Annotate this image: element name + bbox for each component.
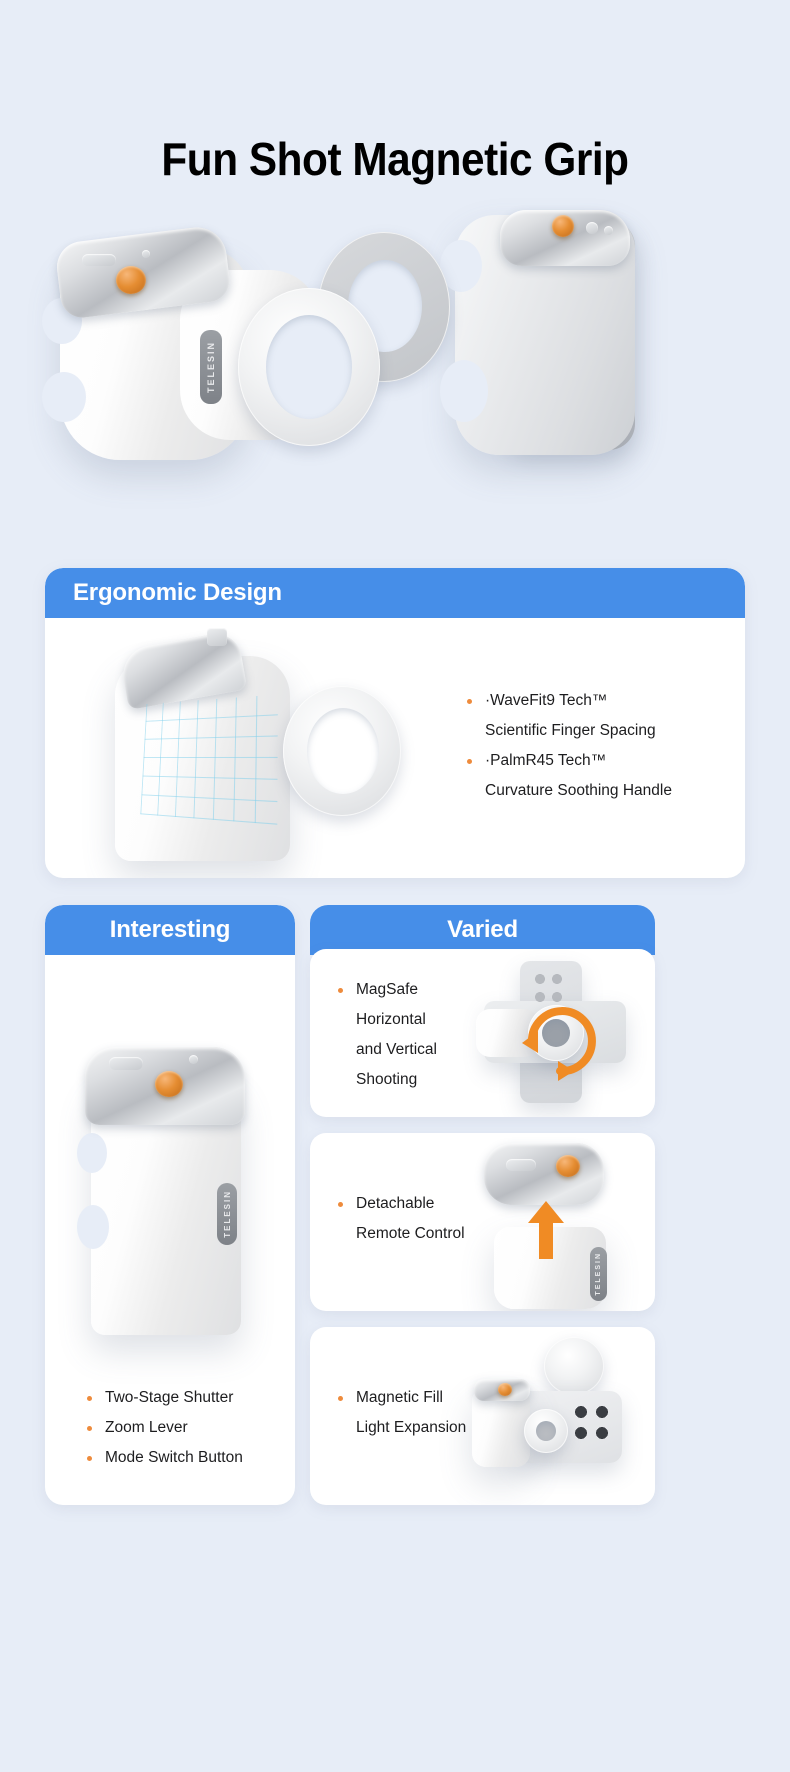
hero-back-mini-button-1 [586, 222, 598, 234]
detachable-remote-illustration: TELESIN [470, 1139, 655, 1309]
fill-light-camera-dots [572, 1403, 616, 1447]
magsafe-line-2: Horizontal [336, 1005, 476, 1035]
card-varied-title: Varied [447, 916, 518, 944]
brand-tag: TELESIN [200, 330, 222, 404]
brand-tag-label: TELESIN [206, 341, 216, 393]
magsafe-line-3: and Vertical [336, 1035, 476, 1065]
interesting-mode-switch-button [189, 1055, 198, 1064]
ergonomic-feature-1: ·WaveFit9 Tech™ [465, 686, 725, 716]
ergonomic-feature-1-sub: Scientific Finger Spacing [465, 716, 725, 746]
ergonomic-feature-2-sub: Curvature Soothing Handle [465, 776, 725, 806]
card-ergonomic-title: Ergonomic Design [73, 579, 282, 607]
ergonomic-magsafe-ring-hole [307, 708, 379, 794]
hero-front-zoom-lever [82, 254, 116, 266]
card-interesting-title: Interesting [110, 916, 230, 944]
interesting-shutter-button [155, 1071, 183, 1097]
magsafe-line-4: Shooting [336, 1065, 476, 1095]
interesting-zoom-lever [109, 1057, 143, 1070]
fill-light-ring-hole [536, 1421, 556, 1441]
hero-front-mode-switch-button [142, 250, 150, 258]
card-varied-banner: Varied [310, 905, 655, 955]
card-interesting[interactable]: Interesting TELESIN Two-Stage Shutter Zo… [45, 905, 295, 1505]
fill-light-line-1: Magnetic Fill [336, 1383, 486, 1413]
remote-zoom-lever [506, 1159, 536, 1171]
interesting-notch-1 [77, 1133, 107, 1173]
varied-item-detachable-remote[interactable]: Detachable Remote Control TELESIN [310, 1133, 655, 1311]
fill-light-shutter-button [498, 1383, 512, 1396]
varied-item-magsafe-shooting[interactable]: MagSafe Horizontal and Vertical Shooting [310, 949, 655, 1117]
detach-up-arrow-icon [528, 1201, 564, 1259]
remote-line-2: Remote Control [336, 1219, 486, 1249]
interesting-illustration: TELESIN [63, 983, 278, 1343]
detachable-remote-text: Detachable Remote Control [336, 1189, 486, 1249]
wavefit-grid-overlay [140, 695, 278, 825]
hero-back-mini-button-2 [604, 226, 613, 235]
ergonomic-feature-list: ·WaveFit9 Tech™ Scientific Finger Spacin… [465, 686, 725, 806]
remote-brand-tag-label: TELESIN [595, 1252, 602, 1296]
interesting-brand-tag: TELESIN [217, 1183, 237, 1245]
interesting-feature-list: Two-Stage Shutter Zoom Lever Mode Switch… [85, 1383, 295, 1473]
magsafe-line-1: MagSafe [336, 975, 476, 1005]
page-title: Fun Shot Magnetic Grip [32, 0, 759, 186]
hero-front-magsafe-ring-hole [266, 315, 352, 419]
hero-front-notch-2 [42, 372, 86, 422]
hero-back-notch-bottom [440, 360, 488, 422]
fill-light-line-2: Light Expansion [336, 1413, 486, 1443]
interesting-feature-2: Zoom Lever [85, 1413, 295, 1443]
card-ergonomic-design[interactable]: Ergonomic Design ·WaveFit9 Tech™ Scienti… [45, 568, 745, 878]
varied-item-magnetic-fill-light[interactable]: Magnetic Fill Light Expansion [310, 1327, 655, 1505]
card-interesting-banner: Interesting [45, 905, 295, 955]
card-ergonomic-banner: Ergonomic Design [45, 568, 745, 618]
remote-brand-tag: TELESIN [590, 1247, 607, 1301]
card-varied[interactable]: Varied MagSafe Horizontal and Vertical S… [310, 905, 655, 1525]
interesting-feature-3: Mode Switch Button [85, 1443, 295, 1473]
interesting-brand-tag-label: TELESIN [223, 1190, 232, 1238]
magsafe-shooting-text: MagSafe Horizontal and Vertical Shooting [336, 975, 476, 1095]
remote-module [484, 1143, 604, 1205]
remote-shutter-button [556, 1155, 580, 1177]
interesting-feature-1: Two-Stage Shutter [85, 1383, 295, 1413]
magnetic-fill-light-illustration [468, 1335, 655, 1500]
ergonomic-feature-2: ·PalmR45 Tech™ [465, 746, 725, 776]
ergonomic-illustration [75, 628, 405, 868]
fill-light-disc [544, 1337, 604, 1395]
hero-front-shutter-button [116, 266, 146, 294]
interesting-notch-2 [77, 1205, 109, 1249]
magsafe-rotation-illustration [470, 957, 650, 1112]
rotation-arrow-icon [512, 991, 608, 1081]
hero-product-image: TELESIN [0, 210, 790, 510]
remote-line-1: Detachable [336, 1189, 486, 1219]
hero-back-shutter-button [552, 215, 574, 237]
ergonomic-mount-screw [207, 628, 227, 646]
magnetic-fill-light-text: Magnetic Fill Light Expansion [336, 1383, 486, 1443]
